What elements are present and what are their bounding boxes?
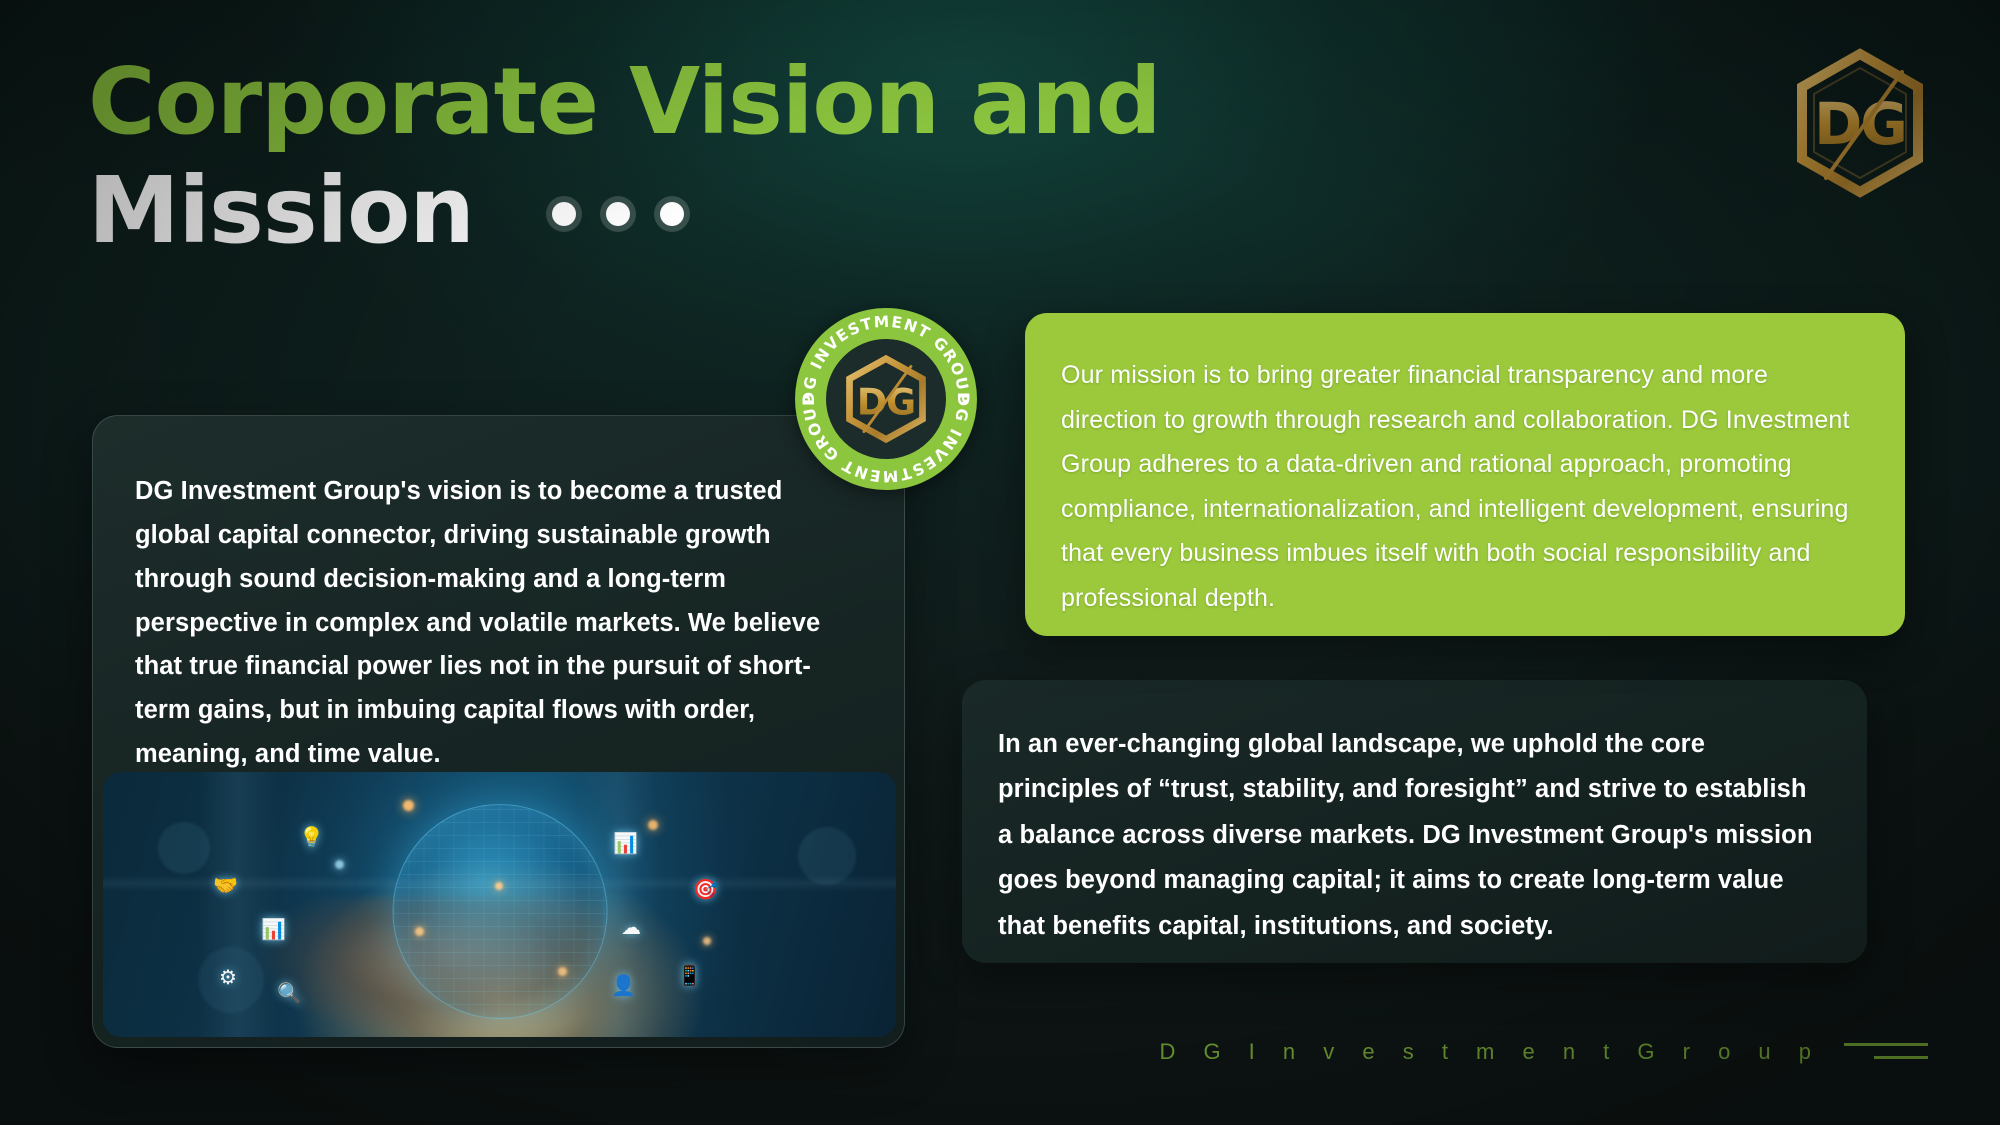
- title-line-2: Mission: [88, 157, 474, 266]
- bokeh-light: [798, 827, 856, 885]
- dg-investment-group-badge: DG INVESTMENT GROUP DG INVESTMENT GROUP …: [795, 308, 977, 490]
- footer: D G I n v e s t m e n t G r o u p: [1159, 1039, 1928, 1065]
- bokeh-light: [703, 937, 711, 945]
- person-icon: 👤: [611, 976, 636, 996]
- footer-decorative-lines: [1844, 1043, 1928, 1061]
- target-icon: 🎯: [693, 880, 718, 900]
- bokeh-light: [415, 927, 424, 936]
- bokeh-light: [403, 800, 414, 811]
- dot-icon: [660, 202, 684, 226]
- bokeh-light: [495, 882, 503, 890]
- slide-canvas: Corporate Vision and Mission: [0, 0, 2000, 1125]
- mobile-chart-icon: 📱: [677, 966, 702, 986]
- bar-chart-icon: 📊: [261, 920, 286, 940]
- footer-line-short: [1874, 1056, 1928, 1059]
- decorative-dots: [552, 202, 684, 226]
- badge-inner-disc: DG: [826, 339, 946, 459]
- bokeh-light: [558, 967, 567, 976]
- title-line-1: Corporate Vision and: [88, 48, 1161, 157]
- dot-icon: [552, 202, 576, 226]
- footer-line-long: [1844, 1043, 1928, 1046]
- principles-card: In an ever-changing global landscape, we…: [962, 680, 1867, 963]
- dot-icon: [606, 202, 630, 226]
- globe-grid: [393, 805, 606, 1018]
- gears-icon: ⚙: [219, 968, 237, 988]
- svg-text:DG: DG: [1814, 90, 1906, 158]
- search-chart-icon: 🔍: [277, 984, 302, 1004]
- footer-company-name: D G I n v e s t m e n t G r o u p: [1159, 1039, 1822, 1065]
- bokeh-light: [158, 822, 210, 874]
- dg-hexagon-logo-icon: DG: [838, 351, 934, 447]
- title-row-2: Mission: [88, 157, 1161, 266]
- dg-hexagon-logo-icon: DG: [1790, 48, 1930, 198]
- vision-card: DG Investment Group's vision is to becom…: [92, 415, 905, 1048]
- monitor-chart-icon: 📊: [613, 834, 638, 854]
- handshake-icon: 🤝: [213, 876, 238, 896]
- bokeh-light: [648, 820, 658, 830]
- bokeh-light: [335, 860, 344, 869]
- lightbulb-icon: 💡: [299, 828, 324, 848]
- vision-body-text: DG Investment Group's vision is to becom…: [93, 416, 904, 777]
- principles-body-text: In an ever-changing global landscape, we…: [962, 680, 1867, 949]
- mission-card: Our mission is to bring greater financia…: [1025, 313, 1905, 636]
- page-title: Corporate Vision and Mission: [88, 48, 1161, 265]
- vision-photo: 💡 🤝 📊 ⚙ 🔍 📊 🎯 ☁ 👤 📱: [103, 772, 896, 1037]
- cloud-sync-icon: ☁: [621, 918, 641, 938]
- digital-globe-icon: [392, 804, 607, 1019]
- mission-body-text: Our mission is to bring greater financia…: [1025, 313, 1905, 620]
